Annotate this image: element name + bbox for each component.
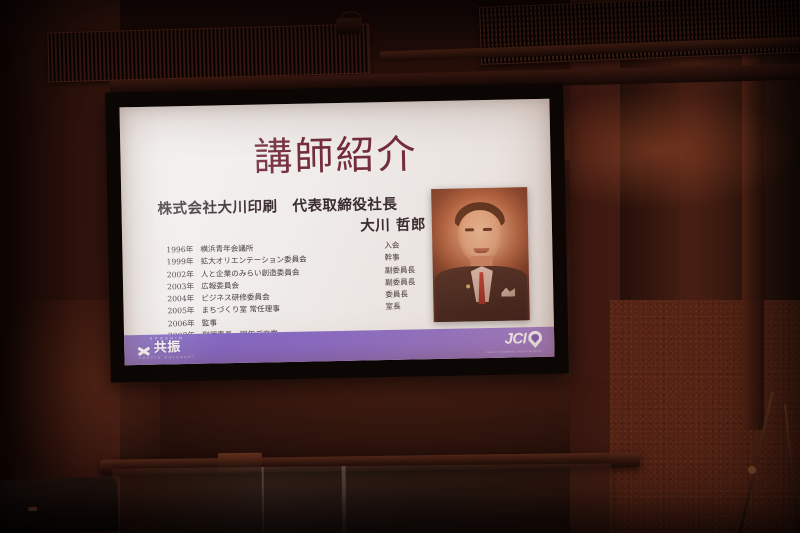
career-role: 入会 (384, 239, 438, 252)
projected-slide: 講師紹介 株式会社大川印刷 代表取締役社長 大川 哲郎 1996年横浜青年会議所… (119, 99, 554, 366)
portrait-eye-left (465, 228, 474, 231)
career-history-list: 1996年横浜青年会議所入会1999年拡大オリエンテーション委員会幹事2002年… (166, 239, 440, 343)
career-year: 2004年 (167, 293, 201, 306)
photo-scene: 講師紹介 株式会社大川印刷 代表取締役社長 大川 哲郎 1996年横浜青年会議所… (0, 0, 800, 533)
kyoshin-logo: KYOSHIN 共振 CREATE MOVEMENT (134, 337, 200, 363)
career-year: 2002年 (167, 268, 201, 281)
career-role: 委員長 (385, 288, 439, 301)
career-year: 1999年 (166, 256, 200, 269)
jci-pin-icon (528, 331, 542, 348)
jci-wordmark: JCI (504, 331, 526, 346)
ceiling-vent-left-icon (47, 24, 370, 83)
career-role: 副委員長 (385, 264, 439, 277)
spotlight-icon (336, 18, 362, 34)
textured-wall-surface (610, 300, 800, 533)
portrait-eye-right (483, 228, 492, 231)
draped-table (112, 463, 613, 533)
slide-title: 講師紹介 (120, 121, 551, 186)
wall-light-glow (560, 90, 800, 210)
career-role: 副委員長 (385, 276, 439, 289)
portrait-lapel-pin (466, 284, 470, 288)
microphone-stand-joint (748, 466, 756, 474)
slide-subtitle-line2: 大川 哲郎 (158, 214, 448, 241)
slide-subtitle-line1: 株式会社大川印刷 代表取締役社長 (157, 196, 397, 218)
career-year: 2006年 (168, 318, 202, 331)
career-role: 幹事 (384, 251, 438, 264)
slide-subtitle: 株式会社大川印刷 代表取締役社長 大川 哲郎 (157, 193, 448, 241)
career-role (386, 313, 440, 326)
portrait-face (458, 210, 503, 263)
career-year: 1996年 (166, 244, 200, 257)
equipment-case (0, 476, 119, 533)
speaker-portrait-photo (431, 187, 530, 322)
career-year: 2003年 (167, 281, 201, 294)
career-role: 室長 (385, 300, 439, 313)
kyoshin-roman-bottom: CREATE MOVEMENT (134, 355, 200, 359)
career-year: 2005年 (167, 305, 201, 318)
